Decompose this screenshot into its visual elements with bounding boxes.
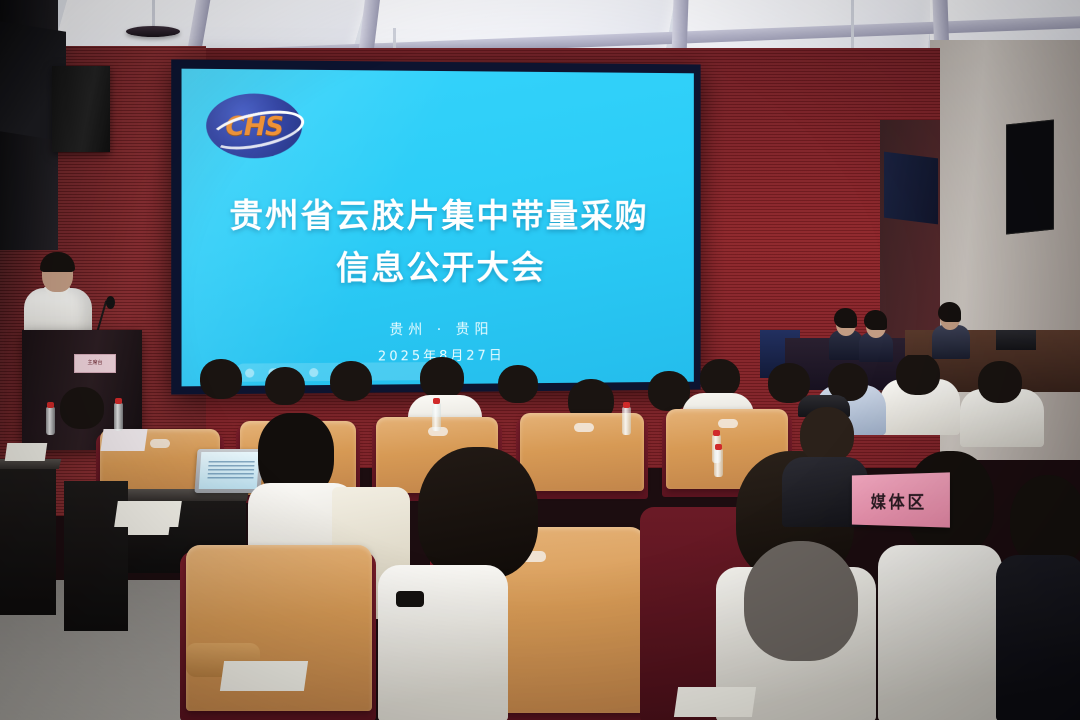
audience-desk: [0, 465, 56, 615]
audience-head: [60, 387, 104, 429]
audience-head: [978, 361, 1022, 403]
staff-laptop: [996, 330, 1036, 350]
led-screen: CHS 贵州省云胶片集中带量采购 信息公开大会 贵州 · 贵阳 2025年8月2…: [182, 69, 694, 387]
speaker-hair: [40, 252, 75, 272]
laptop-content: [207, 461, 254, 481]
media-area-label: 媒体区: [871, 487, 927, 513]
conference-photo: CHS 贵州省云胶片集中带量采购 信息公开大会 贵州 · 贵阳 2025年8月2…: [0, 0, 1080, 720]
audience-laptop[interactable]: [194, 449, 263, 493]
water-bottle: [622, 407, 631, 435]
light-rod: [152, 0, 155, 28]
audience-head: [700, 359, 740, 397]
right-wall-speaker: [884, 152, 938, 225]
audience-area: [0, 355, 1080, 720]
audience-torso: [996, 555, 1080, 720]
ceiling-light: [126, 26, 180, 37]
microphone-head-icon: [106, 296, 115, 309]
seat-badge: [574, 423, 594, 432]
audience-head: [420, 357, 464, 399]
laptop-screen: [199, 452, 260, 489]
audience-torso: [878, 545, 1002, 720]
slide-location: 贵州 · 贵阳: [182, 318, 694, 341]
water-bottle: [432, 403, 441, 431]
audience-head: [265, 367, 305, 405]
audience-head: [1010, 475, 1080, 567]
staff-hair: [864, 310, 887, 330]
staff-hair: [834, 308, 857, 328]
audience-head: [744, 541, 858, 661]
chs-logo: CHS: [206, 93, 302, 158]
audience-torso: [378, 565, 508, 720]
audience-head: [418, 447, 538, 579]
document: [674, 687, 756, 717]
water-bottle: [46, 407, 55, 435]
document: [114, 501, 182, 527]
media-area-sign: 媒体区: [852, 472, 950, 527]
audience-head: [330, 361, 372, 401]
audience-head: [200, 359, 242, 399]
left-wall-speaker: [52, 66, 110, 152]
document: [5, 443, 48, 461]
slide-title-line-2: 信息公开大会: [182, 241, 694, 290]
staff-body: [932, 325, 970, 359]
wristwatch: [396, 591, 424, 607]
seat-badge: [718, 419, 738, 428]
document: [220, 661, 308, 691]
seat-badge: [150, 439, 170, 448]
right-monitor: [1006, 119, 1054, 234]
staff-hair: [938, 302, 961, 322]
photographer-head: [800, 407, 854, 463]
audience-head: [896, 355, 940, 395]
name-card: [100, 429, 147, 451]
slide-title-line-1: 贵州省云胶片集中带量采购: [182, 188, 694, 237]
speaker-glasses-icon: [45, 270, 70, 277]
water-bottle: [714, 449, 723, 477]
led-screen-frame: CHS 贵州省云胶片集中带量采购 信息公开大会 贵州 · 贵阳 2025年8月2…: [171, 59, 700, 394]
audience-head: [498, 365, 538, 403]
water-bottle: [114, 403, 123, 431]
